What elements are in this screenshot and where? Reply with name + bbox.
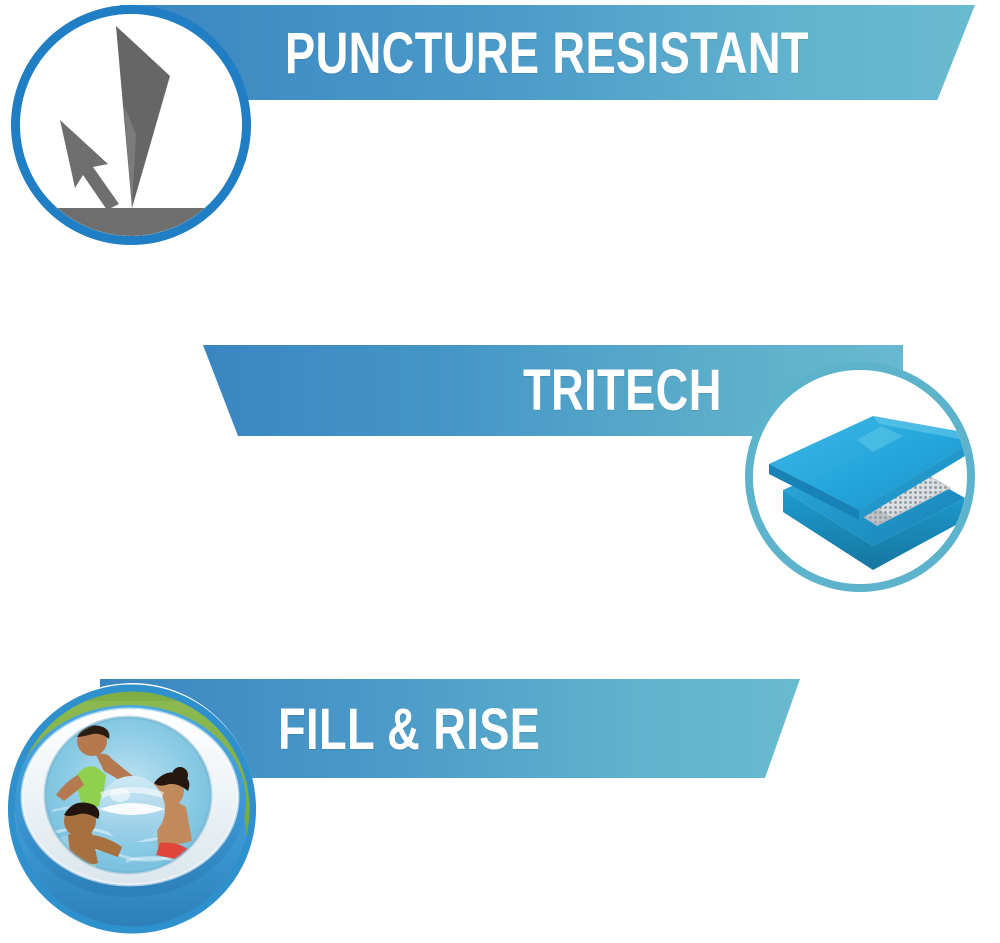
feature-label-puncture-resistant: PUNCTURE RESISTANT [285,25,809,83]
fill-and-rise-photo-icon [8,683,256,935]
tritech-material-icon [745,362,975,592]
feature-label-fill-and-rise: FILL & RISE [278,701,540,759]
feature-label-tritech: TRITECH [523,362,722,420]
puncture-resistant-icon [11,5,251,245]
feature-banner-puncture-resistant: PUNCTURE RESISTANT [120,5,975,100]
infographic-canvas: PUNCTURE RESISTANT TRITECH [0,0,1000,943]
